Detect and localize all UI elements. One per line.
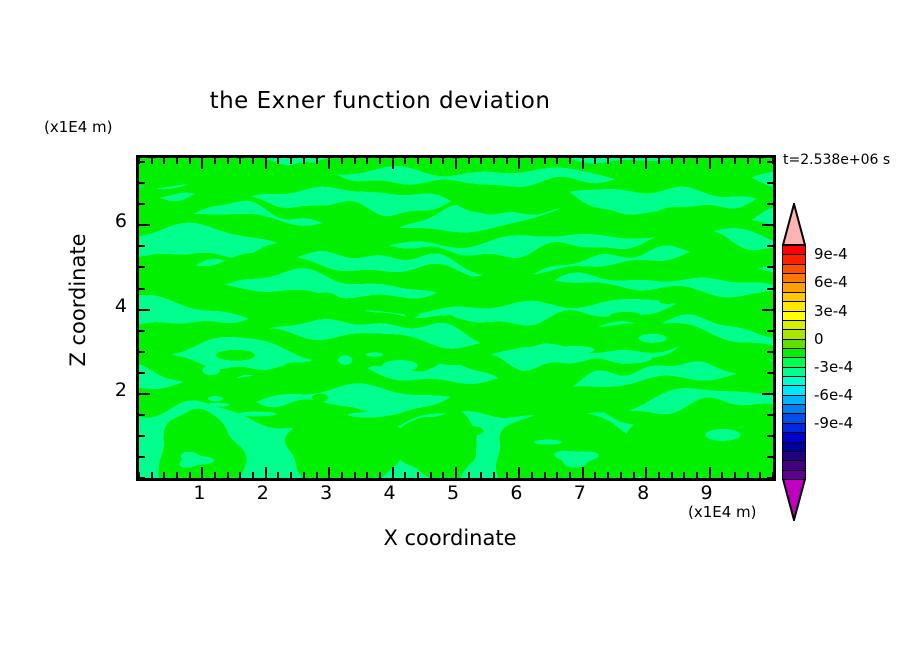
x-axis-tick [645, 158, 647, 169]
contour-speck [444, 315, 454, 323]
colorbar-tick-label: -9e-4 [814, 414, 853, 432]
y-axis-tick [139, 224, 150, 226]
x-axis-tick [341, 158, 343, 164]
x-axis-tick [531, 472, 533, 478]
x-axis-tick [430, 472, 432, 478]
x-axis-tick [480, 158, 482, 164]
x-axis-tick [227, 158, 229, 164]
x-axis-tick [759, 158, 761, 164]
colorbar-tick-label: 9e-4 [814, 245, 848, 263]
x-axis-tick [189, 158, 191, 164]
contour-speck [610, 353, 652, 363]
x-axis-tick [709, 467, 711, 478]
x-axis-tick [493, 472, 495, 478]
x-axis-tick [163, 158, 165, 164]
x-axis-tick [747, 158, 749, 164]
x-axis-tick [468, 472, 470, 478]
y-axis-tick [139, 245, 145, 247]
y-axis-tick [762, 393, 773, 395]
x-axis-tick [709, 158, 711, 169]
x-axis-tick [392, 467, 394, 478]
y-axis-tick [767, 203, 773, 205]
x-axis-tick [290, 472, 292, 478]
x-axis-tick [265, 467, 267, 478]
x-axis-title: X coordinate [255, 526, 645, 550]
x-axis-tick [252, 158, 254, 164]
x-axis-tick [480, 472, 482, 478]
colorbar-tick-label: 3e-4 [814, 302, 848, 320]
contour-speck [659, 300, 677, 304]
y-axis-tick [767, 245, 773, 247]
x-axis-tick [176, 158, 178, 164]
y-axis-tick [767, 477, 773, 479]
y-axis-tick-label: 4 [97, 295, 127, 317]
contour-plot-area [136, 155, 776, 481]
x-axis-tick [201, 158, 203, 169]
x-axis-tick [442, 472, 444, 478]
x-axis-tick [544, 158, 546, 164]
x-axis-tick [176, 472, 178, 478]
y-axis-tick [767, 288, 773, 290]
y-axis-tick [139, 161, 145, 163]
x-axis-tick [303, 158, 305, 164]
colorbar [782, 203, 806, 521]
page-title: the Exner function deviation [0, 88, 760, 114]
x-axis-tick [721, 472, 723, 478]
colorbar-top-cap [782, 203, 806, 245]
x-axis-tick [379, 158, 381, 164]
contour-speck [348, 412, 388, 418]
contour-speck [366, 353, 384, 357]
x-axis-tick [201, 467, 203, 478]
x-axis-tick [747, 472, 749, 478]
y-axis-tick [139, 435, 145, 437]
x-axis-tick [265, 158, 267, 169]
x-axis-tick-label: 9 [692, 482, 722, 504]
y-axis-tick-label: 6 [97, 210, 127, 232]
contour-speck [363, 273, 405, 284]
contour-speck [207, 403, 230, 407]
x-axis-tick [671, 158, 673, 164]
y-axis-tick [139, 351, 145, 353]
x-axis-tick [582, 158, 584, 169]
x-axis-tick [633, 472, 635, 478]
y-axis-tick [139, 330, 145, 332]
y-axis-tick [139, 309, 150, 311]
y-axis-tick [767, 161, 773, 163]
contour-speck [310, 358, 321, 368]
x-axis-tick [696, 472, 698, 478]
x-axis-tick [290, 158, 292, 164]
x-axis-tick [417, 472, 419, 478]
x-axis-tick [671, 472, 673, 478]
x-axis-unit-label: (x1E4 m) [688, 503, 757, 521]
x-axis-tick [506, 472, 508, 478]
x-axis-tick [721, 158, 723, 164]
x-axis-tick [239, 158, 241, 164]
x-axis-tick [214, 158, 216, 164]
y-axis-tick [767, 330, 773, 332]
x-axis-tick [633, 158, 635, 164]
y-axis-tick-label: 2 [97, 379, 127, 401]
x-axis-tick-label: 4 [375, 482, 405, 504]
colorbar-tick-label: 0 [814, 330, 824, 348]
contour-speck [556, 346, 594, 354]
y-axis-tick [139, 266, 145, 268]
contour-speck [610, 312, 642, 321]
x-axis-tick [620, 472, 622, 478]
y-axis-tick [767, 372, 773, 374]
x-axis-tick [734, 158, 736, 164]
x-axis-tick [455, 467, 457, 478]
y-axis-tick [767, 435, 773, 437]
x-axis-tick [366, 158, 368, 164]
figure-canvas: the Exner function deviation (x1E4 m) (x… [0, 0, 904, 654]
contour-speck [705, 429, 740, 441]
contour-speck [312, 394, 328, 403]
x-axis-tick [531, 158, 533, 164]
timestamp-annotation: t=2.538e+06 s [783, 152, 890, 168]
contour-speck [404, 310, 419, 318]
y-axis-tick [139, 414, 145, 416]
contour-speck [208, 396, 223, 401]
contour-blob-positive [398, 411, 477, 478]
x-axis-tick [683, 472, 685, 478]
x-axis-tick [277, 158, 279, 164]
x-axis-tick-label: 6 [501, 482, 531, 504]
y-axis-tick [139, 182, 145, 184]
x-axis-tick [316, 158, 318, 164]
x-axis-tick [227, 472, 229, 478]
x-axis-tick-label: 1 [184, 482, 214, 504]
x-axis-tick [379, 472, 381, 478]
y-axis-tick [139, 288, 145, 290]
x-axis-tick [569, 472, 571, 478]
x-axis-tick [303, 472, 305, 478]
x-axis-tick [354, 158, 356, 164]
y-axis-tick [139, 203, 145, 205]
contour-speck [202, 366, 220, 376]
x-axis-tick [214, 472, 216, 478]
x-axis-tick [493, 158, 495, 164]
x-axis-tick [328, 467, 330, 478]
x-axis-tick-label: 5 [438, 482, 468, 504]
colorbar-tick-label: -3e-4 [814, 358, 853, 376]
x-axis-tick [468, 158, 470, 164]
contour-speck [639, 334, 667, 343]
x-axis-tick [442, 158, 444, 164]
y-axis-tick [767, 266, 773, 268]
x-axis-tick [341, 472, 343, 478]
y-axis-tick [139, 393, 150, 395]
x-axis-tick [658, 472, 660, 478]
x-axis-tick-label: 3 [311, 482, 341, 504]
x-axis-tick [683, 158, 685, 164]
x-axis-tick [404, 158, 406, 164]
y-axis-tick [139, 456, 145, 458]
y-axis-tick [767, 414, 773, 416]
x-axis-tick [417, 158, 419, 164]
x-axis-tick [569, 158, 571, 164]
x-axis-tick [151, 472, 153, 478]
x-axis-tick [328, 158, 330, 169]
x-axis-tick [607, 472, 609, 478]
x-axis-tick [594, 472, 596, 478]
x-axis-tick [582, 467, 584, 478]
x-axis-tick [430, 158, 432, 164]
x-axis-tick [518, 467, 520, 478]
x-axis-tick [556, 472, 558, 478]
contour-speck [450, 426, 484, 437]
y-axis-tick [762, 224, 773, 226]
x-axis-tick [544, 472, 546, 478]
y-axis-tick [762, 309, 773, 311]
x-axis-tick [392, 158, 394, 169]
contour-speck [322, 286, 349, 291]
x-axis-tick [506, 158, 508, 164]
x-axis-tick [759, 472, 761, 478]
x-axis-tick [151, 158, 153, 164]
x-axis-tick [607, 158, 609, 164]
x-axis-tick [354, 472, 356, 478]
contour-speck [382, 360, 418, 371]
y-axis-tick [767, 351, 773, 353]
x-axis-tick [518, 158, 520, 169]
x-axis-tick [658, 158, 660, 164]
colorbar-bottom-cap [782, 479, 806, 521]
x-axis-tick [239, 472, 241, 478]
x-axis-tick [620, 158, 622, 164]
y-axis-unit-label: (x1E4 m) [44, 118, 113, 136]
x-axis-tick [645, 467, 647, 478]
y-axis-tick [767, 456, 773, 458]
y-axis-title: Z coordinate [66, 200, 90, 400]
x-axis-tick [189, 472, 191, 478]
y-axis-tick [139, 372, 145, 374]
x-axis-tick [163, 472, 165, 478]
y-axis-tick [767, 182, 773, 184]
x-axis-tick [696, 158, 698, 164]
colorbar-tick-label: 6e-4 [814, 273, 848, 291]
x-axis-tick [404, 472, 406, 478]
x-axis-tick-label: 8 [628, 482, 658, 504]
contour-field [139, 158, 773, 478]
x-axis-tick [594, 158, 596, 164]
x-axis-tick-label: 2 [248, 482, 278, 504]
y-axis-tick [139, 477, 145, 479]
x-axis-tick [556, 158, 558, 164]
x-axis-tick [277, 472, 279, 478]
x-axis-tick [316, 472, 318, 478]
x-axis-tick [734, 472, 736, 478]
contour-speck [216, 350, 255, 361]
x-axis-tick [366, 472, 368, 478]
x-axis-tick [252, 472, 254, 478]
x-axis-tick [455, 158, 457, 169]
colorbar-tick-label: -6e-4 [814, 386, 853, 404]
x-axis-tick-label: 7 [565, 482, 595, 504]
contour-speck [238, 412, 277, 417]
